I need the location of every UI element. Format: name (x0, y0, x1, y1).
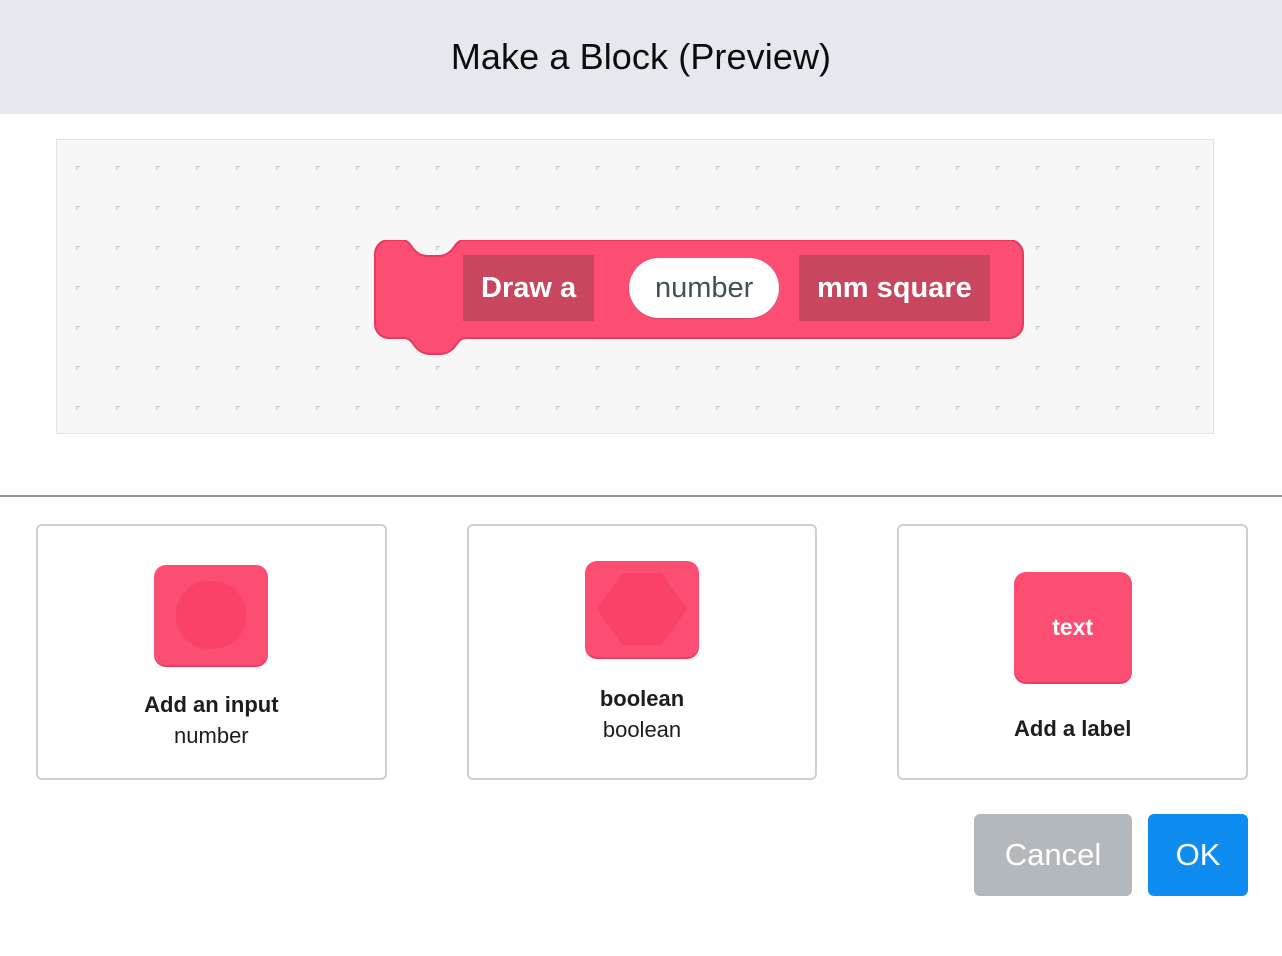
option-icon-slot: text (1014, 526, 1132, 702)
option-card-boolean[interactable]: boolean boolean (467, 524, 818, 780)
dialog-footer: Cancel OK (0, 780, 1282, 896)
option-icon-slot (585, 526, 699, 684)
block-layer: Draw a number mm square (57, 140, 1213, 433)
define-hat-block-shape[interactable] (367, 240, 1097, 360)
option-card-add-an-input[interactable]: Add an input number (36, 524, 387, 780)
page-title: Make a Block (Preview) (451, 36, 831, 78)
option-texts: boolean boolean (600, 684, 684, 746)
ok-button[interactable]: OK (1148, 814, 1248, 896)
cancel-button[interactable]: Cancel (974, 814, 1132, 896)
option-subtitle: number (174, 720, 249, 752)
dialog-header: Make a Block (Preview) (0, 0, 1282, 114)
round-input-icon-oval (176, 581, 246, 649)
block-preview-workspace[interactable]: Draw a number mm square (56, 139, 1214, 434)
option-texts: Add a label (1014, 702, 1131, 744)
option-subtitle: boolean (603, 714, 681, 746)
text-label-icon: text (1014, 572, 1132, 682)
workspace-wrapper: Draw a number mm square (0, 114, 1282, 434)
text-label-icon-text: text (1052, 614, 1093, 641)
round-input-icon (154, 565, 268, 665)
option-cards-row: Add an input number boolean boolean text… (0, 497, 1282, 780)
option-card-add-a-label[interactable]: text Add a label (897, 524, 1248, 780)
option-title: Add a label (1014, 714, 1131, 744)
option-icon-slot (154, 526, 268, 690)
boolean-hexagon-icon-shape (597, 573, 687, 645)
option-texts: Add an input number (144, 690, 278, 752)
option-title: Add an input (144, 690, 278, 720)
boolean-hexagon-icon (585, 561, 699, 657)
option-title: boolean (600, 684, 684, 714)
